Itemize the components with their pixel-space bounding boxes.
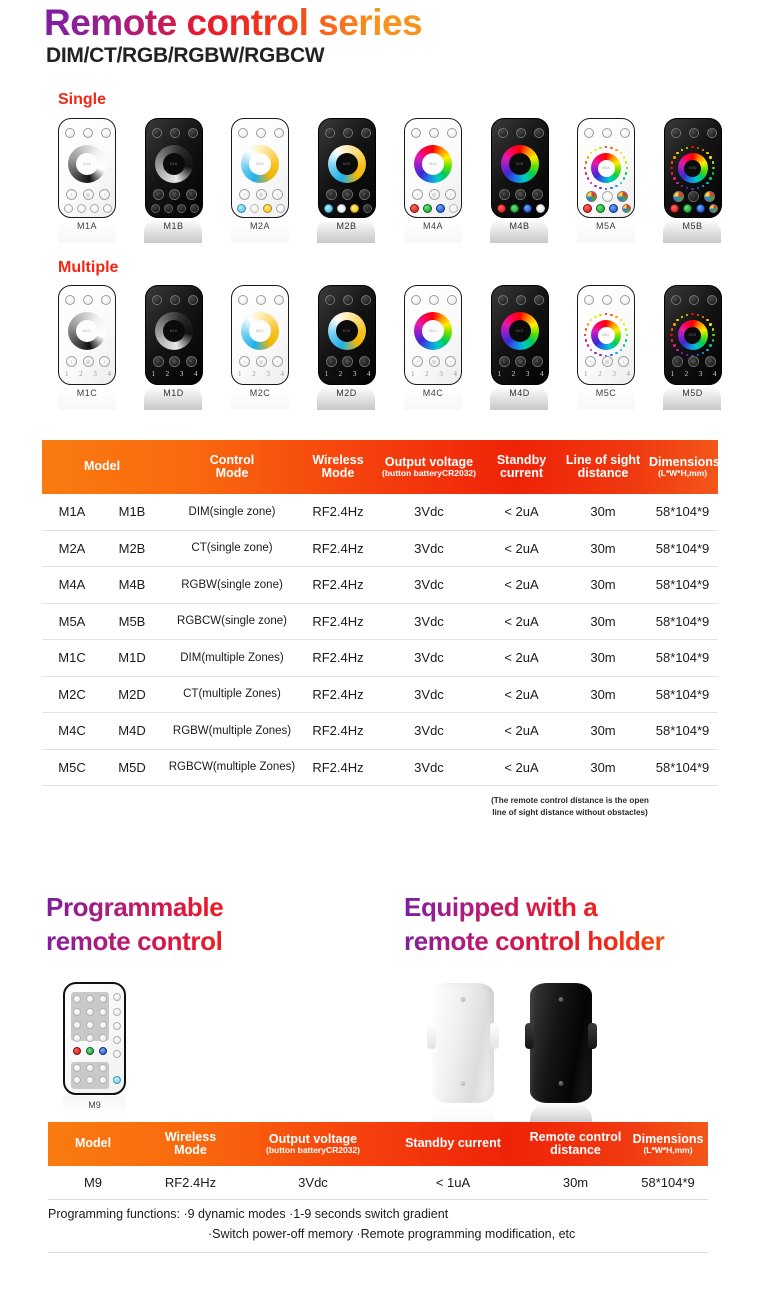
color-wheel-dial[interactable]: M1D: [155, 312, 193, 350]
power-button[interactable]: [498, 128, 508, 138]
cell-distance: 30m: [559, 541, 647, 556]
brightness-button[interactable]: [170, 295, 180, 305]
preset-3-button[interactable]: [617, 191, 628, 202]
play-button[interactable]: ◎: [83, 189, 94, 200]
column-header-title: Wireless: [304, 454, 372, 468]
color-wheel-dial[interactable]: M4C: [414, 312, 452, 350]
prev-button[interactable]: ‹: [326, 189, 337, 200]
play-button[interactable]: ◎: [169, 189, 180, 200]
remote-preset-row: [673, 191, 715, 202]
cell-voltage: 3Vdc: [374, 760, 484, 775]
remote-card-m1d: M1D‹◎›1234M1D: [131, 285, 217, 398]
zone-button-4[interactable]: 4: [540, 370, 544, 378]
zone-button-4[interactable]: 4: [280, 370, 284, 378]
color-wheel-dial[interactable]: M2C: [241, 312, 279, 350]
mode-button[interactable]: [534, 128, 544, 138]
prev-button[interactable]: ‹: [412, 189, 423, 200]
prev-button[interactable]: ‹: [672, 356, 683, 367]
cell-model_b: M1D: [102, 650, 162, 665]
play-button[interactable]: ◎: [256, 189, 267, 200]
mode-button[interactable]: [707, 128, 717, 138]
color-wheel-dial[interactable]: M2B: [328, 145, 366, 183]
zone-button-1[interactable]: 1: [584, 370, 588, 378]
color-wheel-dial[interactable]: M5B: [678, 153, 708, 183]
power-button[interactable]: [238, 295, 248, 305]
prev-button[interactable]: ‹: [153, 189, 164, 200]
m9-cell-wireless: RF2.4Hz: [138, 1175, 243, 1190]
footnote-line-1: (The remote control distance is the open: [491, 796, 649, 805]
programming-functions-note: Programming functions: ·9 dynamic modes …: [48, 1204, 708, 1244]
cell-dimensions: 58*104*9: [647, 504, 718, 519]
auto-mode-button[interactable]: [363, 204, 372, 213]
remote-top-button-row: [238, 295, 284, 305]
m9-table-row: M9RF2.4Hz3Vdc< 1uA30m58*104*9: [48, 1166, 708, 1200]
brightness-button[interactable]: [170, 128, 180, 138]
cell-distance: 30m: [559, 760, 647, 775]
m9-key: [73, 1076, 81, 1084]
footnote-line-2: line of sight distance without obstacles…: [492, 808, 648, 817]
dial-center-label: M5C: [598, 327, 615, 344]
cell-distance: 30m: [559, 504, 647, 519]
next-button[interactable]: ›: [359, 356, 370, 367]
zone-button-4[interactable]: 4: [194, 370, 198, 378]
mode-button[interactable]: [101, 295, 111, 305]
remote-reflection: [490, 219, 548, 243]
speed-down-button[interactable]: [64, 204, 73, 213]
zone-button-1[interactable]: 1: [238, 370, 242, 378]
white-button[interactable]: [536, 204, 545, 213]
zone-button-1[interactable]: 1: [325, 370, 329, 378]
remote-card-m2d: M2D‹◎›1234M2D: [304, 285, 390, 398]
remote-body: M2A‹◎›: [231, 118, 289, 218]
power-button[interactable]: [498, 295, 508, 305]
m9-column-header-1: WirelessMode: [138, 1131, 243, 1158]
cell-distance: 30m: [559, 723, 647, 738]
remote-card-m4a: M4A‹◎›M4A: [390, 118, 476, 231]
cell-model_b: M4D: [102, 723, 162, 738]
remote-nav-row: ‹◎›: [412, 356, 456, 367]
zone-button-1[interactable]: 1: [152, 370, 156, 378]
holder-section-title: Equipped with a remote control holder: [404, 890, 744, 959]
remote-nav-row: ‹◎›: [412, 189, 456, 200]
cool-white-button[interactable]: [324, 204, 333, 213]
remote-bottom-button-row: [497, 204, 545, 213]
column-header-title: Output voltage: [376, 456, 482, 470]
cell-mode: CT(single zone): [162, 542, 302, 554]
column-header-4: Standbycurrent: [484, 454, 559, 481]
power-button[interactable]: [671, 295, 681, 305]
zone-button-1[interactable]: 1: [411, 370, 415, 378]
color-wheel-dial[interactable]: M4A: [414, 145, 452, 183]
zone-button-4[interactable]: 4: [713, 370, 717, 378]
divider-above-programming: [48, 1199, 708, 1200]
brightness-button[interactable]: [516, 128, 526, 138]
natural-white-button[interactable]: [250, 204, 259, 213]
zone-button-3[interactable]: 3: [612, 370, 616, 378]
programmable-section-title: Programmable remote control: [46, 890, 376, 959]
next-button[interactable]: ›: [532, 189, 543, 200]
column-header-title: Control: [164, 454, 300, 468]
zone-button-row: 1234: [411, 370, 457, 378]
zone-button-3[interactable]: 3: [266, 370, 270, 378]
remote-top-button-row: [584, 295, 630, 305]
m9-key: [86, 995, 94, 1003]
brightness-button[interactable]: [429, 128, 439, 138]
play-button[interactable]: ◎: [429, 356, 440, 367]
brightness-button[interactable]: [602, 128, 612, 138]
dial-center-label: M4D: [509, 320, 531, 342]
brightness-button[interactable]: [343, 128, 353, 138]
m9-key: [86, 1021, 94, 1029]
m9-remote-image: [63, 982, 126, 1095]
remote-body: M4B‹◎›: [491, 118, 549, 218]
next-button[interactable]: ›: [186, 189, 197, 200]
m9-column-header-5: Dimensions(L*W*H,mm): [628, 1133, 708, 1156]
mode-button[interactable]: [447, 295, 457, 305]
brightness-button[interactable]: [83, 295, 93, 305]
remote-nav-row: ‹◎›: [672, 356, 716, 367]
next-button[interactable]: ›: [272, 189, 283, 200]
table-footnote: (The remote control distance is the open…: [430, 795, 710, 819]
blue-button[interactable]: [523, 204, 532, 213]
next-button[interactable]: ›: [99, 189, 110, 200]
power-button[interactable]: [325, 295, 335, 305]
table-row: M1CM1DDIM(multiple Zones)RF2.4Hz3Vdc< 2u…: [42, 640, 718, 677]
play-button[interactable]: ◎: [342, 189, 353, 200]
m9-cell-model: M9: [48, 1175, 138, 1190]
cell-model_a: M1C: [42, 650, 102, 665]
cell-model_a: M4C: [42, 723, 102, 738]
play-button[interactable]: ◎: [256, 356, 267, 367]
zone-button-2[interactable]: 2: [79, 370, 83, 378]
cell-voltage: 3Vdc: [374, 614, 484, 629]
m9-column-header-subtitle: (L*W*H,mm): [630, 1146, 706, 1155]
prev-button[interactable]: ‹: [499, 356, 510, 367]
color-wheel-dial[interactable]: M1A: [68, 145, 106, 183]
warm-white-button[interactable]: [350, 204, 359, 213]
green-button[interactable]: [683, 204, 692, 213]
zone-button-2[interactable]: 2: [512, 370, 516, 378]
table-row: M5CM5DRGBCW(multiple Zones)RF2.4Hz3Vdc< …: [42, 750, 718, 787]
cell-standby: < 2uA: [484, 760, 559, 775]
cell-model_a: M2C: [42, 687, 102, 702]
next-button[interactable]: ›: [272, 356, 283, 367]
remote-card-m1c: M1C‹◎›1234M1C: [44, 285, 130, 398]
mode-button[interactable]: [707, 295, 717, 305]
red-button[interactable]: [670, 204, 679, 213]
cell-wireless: RF2.4Hz: [302, 541, 374, 556]
zone-button-4[interactable]: 4: [453, 370, 457, 378]
cell-model_a: M1A: [42, 504, 102, 519]
mode-button[interactable]: [361, 295, 371, 305]
column-header-title-2: current: [486, 467, 557, 481]
m9-key: [99, 1064, 107, 1072]
prev-button[interactable]: ‹: [66, 189, 77, 200]
remote-top-button-row: [411, 128, 457, 138]
auto-mode-button[interactable]: [276, 204, 285, 213]
zone-button-4[interactable]: 4: [107, 370, 111, 378]
blue-button[interactable]: [609, 204, 618, 213]
zone-button-4[interactable]: 4: [367, 370, 371, 378]
natural-white-button[interactable]: [337, 204, 346, 213]
brightness-button[interactable]: [429, 295, 439, 305]
play-button[interactable]: ◎: [688, 356, 699, 367]
column-header-2: WirelessMode: [302, 454, 374, 481]
blue-button[interactable]: [436, 204, 445, 213]
remote-nav-row: ‹◎›: [585, 356, 629, 367]
red-button[interactable]: [497, 204, 506, 213]
prev-button[interactable]: ‹: [412, 356, 423, 367]
color-wheel-dial[interactable]: M5C: [591, 320, 621, 350]
power-button[interactable]: [411, 128, 421, 138]
m9-key: [73, 995, 81, 1003]
prev-button[interactable]: ‹: [239, 189, 250, 200]
next-button[interactable]: ›: [618, 356, 629, 367]
remote-body: M1A‹◎›: [58, 118, 116, 218]
table-row: M4AM4BRGBW(single zone)RF2.4Hz3Vdc< 2uA3…: [42, 567, 718, 604]
page-subtitle: DIM/CT/RGB/RGBW/RGBCW: [46, 44, 324, 68]
prev-button[interactable]: ‹: [585, 356, 596, 367]
cell-voltage: 3Vdc: [374, 541, 484, 556]
prev-button[interactable]: ‹: [326, 356, 337, 367]
speed-up-button[interactable]: [77, 204, 86, 213]
remote-body: M4A‹◎›: [404, 118, 462, 218]
divider-below-programming: [48, 1252, 708, 1253]
dial-center-label: M4A: [422, 153, 444, 175]
next-button[interactable]: ›: [186, 356, 197, 367]
preset-1-button[interactable]: [673, 191, 684, 202]
zone-button-2[interactable]: 2: [425, 370, 429, 378]
cell-mode: CT(multiple Zones): [162, 688, 302, 700]
dial-center-label: M1B: [163, 153, 185, 175]
dim-up-button[interactable]: [190, 204, 199, 213]
cell-model_a: M5A: [42, 614, 102, 629]
brightness-button[interactable]: [602, 295, 612, 305]
red-button[interactable]: [583, 204, 592, 213]
color-wheel-dial[interactable]: M5A: [591, 153, 621, 183]
power-button[interactable]: [238, 128, 248, 138]
cell-model_a: M4A: [42, 577, 102, 592]
blue-button[interactable]: [696, 204, 705, 213]
power-button[interactable]: [411, 295, 421, 305]
brightness-button[interactable]: [256, 128, 266, 138]
cell-distance: 30m: [559, 577, 647, 592]
prev-button[interactable]: ‹: [239, 356, 250, 367]
zone-button-row: 1234: [152, 370, 198, 378]
column-header-title: Dimensions: [649, 456, 716, 470]
cool-white-button[interactable]: [237, 204, 246, 213]
play-button[interactable]: ◎: [429, 189, 440, 200]
white-button[interactable]: [449, 204, 458, 213]
mode-button[interactable]: [274, 128, 284, 138]
next-button[interactable]: ›: [705, 356, 716, 367]
dial-center-label: M4C: [422, 320, 444, 342]
m9-key-green: [86, 1047, 94, 1055]
color-wheel-dial[interactable]: M1B: [155, 145, 193, 183]
m9-cell-dimensions: 58*104*9: [628, 1175, 708, 1190]
brightness-button[interactable]: [516, 295, 526, 305]
dial-center-label: M2D: [336, 320, 358, 342]
speed-down-button[interactable]: [151, 204, 160, 213]
cell-model_b: M2B: [102, 541, 162, 556]
dim-up-button[interactable]: [103, 204, 112, 213]
zone-button-1[interactable]: 1: [65, 370, 69, 378]
m9-side-key: [113, 1022, 121, 1030]
power-button[interactable]: [584, 295, 594, 305]
color-wheel-dial[interactable]: M2D: [328, 312, 366, 350]
color-wheel-dial[interactable]: M4D: [501, 312, 539, 350]
zone-button-2[interactable]: 2: [339, 370, 343, 378]
brightness-button[interactable]: [256, 295, 266, 305]
cell-dimensions: 58*104*9: [647, 650, 718, 665]
cell-standby: < 2uA: [484, 541, 559, 556]
prev-button[interactable]: ‹: [66, 356, 77, 367]
color-wheel-dial[interactable]: M5D: [678, 320, 708, 350]
remote-nav-row: ‹◎›: [66, 189, 110, 200]
dim-down-button[interactable]: [177, 204, 186, 213]
remote-reflection: [577, 219, 635, 243]
remote-bottom-button-row: [237, 204, 285, 213]
remote-card-m2c: M2C‹◎›1234M2C: [217, 285, 303, 398]
column-header-6: Dimensions(L*W*H,mm): [647, 456, 718, 479]
color-wheel-dial[interactable]: M2A: [241, 145, 279, 183]
prev-button[interactable]: ‹: [499, 189, 510, 200]
remote-nav-row: ‹◎›: [66, 356, 110, 367]
power-button[interactable]: [152, 128, 162, 138]
cell-voltage: 3Vdc: [374, 687, 484, 702]
remote-card-m4c: M4C‹◎›1234M4C: [390, 285, 476, 398]
zone-button-2[interactable]: 2: [685, 370, 689, 378]
preset-2-button[interactable]: [602, 191, 613, 202]
next-button[interactable]: ›: [99, 356, 110, 367]
play-button[interactable]: ◎: [83, 356, 94, 367]
power-button[interactable]: [325, 128, 335, 138]
m9-column-header-2: Output voltage(button batteryCR2032): [243, 1133, 383, 1156]
mode-button[interactable]: [101, 128, 111, 138]
table-row: M5AM5BRGBCW(single zone)RF2.4Hz3Vdc< 2uA…: [42, 604, 718, 641]
cell-voltage: 3Vdc: [374, 577, 484, 592]
brightness-button[interactable]: [343, 295, 353, 305]
cell-mode: RGBCW(single zone): [162, 615, 302, 627]
brightness-button[interactable]: [689, 128, 699, 138]
color-wheel-dial[interactable]: M4B: [501, 145, 539, 183]
next-button[interactable]: ›: [445, 189, 456, 200]
remote-top-button-row: [671, 128, 717, 138]
remote-body: M1C‹◎›1234: [58, 285, 116, 385]
zone-button-3[interactable]: 3: [93, 370, 97, 378]
play-button[interactable]: ◎: [515, 356, 526, 367]
prev-button[interactable]: ‹: [153, 356, 164, 367]
power-button[interactable]: [152, 295, 162, 305]
remote-reflection: [58, 386, 116, 410]
dim-down-button[interactable]: [90, 204, 99, 213]
mix-button[interactable]: [709, 204, 718, 213]
zone-button-row: 1234: [498, 370, 544, 378]
color-wheel-dial[interactable]: M1C: [68, 312, 106, 350]
green-button[interactable]: [510, 204, 519, 213]
m9-key: [99, 1034, 107, 1042]
zone-button-3[interactable]: 3: [180, 370, 184, 378]
m9-spec-table: ModelWirelessModeOutput voltage(button b…: [48, 1122, 708, 1200]
power-button[interactable]: [584, 128, 594, 138]
speed-up-button[interactable]: [164, 204, 173, 213]
holder-title-line-1: Equipped with a: [404, 892, 597, 922]
remote-top-button-row: [498, 295, 544, 305]
mode-button[interactable]: [620, 295, 630, 305]
cell-wireless: RF2.4Hz: [302, 614, 374, 629]
m9-key: [73, 1064, 81, 1072]
preset-1-button[interactable]: [586, 191, 597, 202]
mix-button[interactable]: [622, 204, 631, 213]
remote-top-button-row: [325, 128, 371, 138]
remote-top-button-row: [498, 128, 544, 138]
zone-button-1[interactable]: 1: [671, 370, 675, 378]
mode-button[interactable]: [188, 128, 198, 138]
zone-button-3[interactable]: 3: [699, 370, 703, 378]
mode-button[interactable]: [274, 295, 284, 305]
play-button[interactable]: ◎: [602, 356, 613, 367]
play-button[interactable]: ◎: [515, 189, 526, 200]
m9-column-header-title: Remote control: [525, 1131, 626, 1145]
power-button[interactable]: [65, 295, 75, 305]
cell-mode: RGBW(multiple Zones): [162, 725, 302, 737]
preset-2-button[interactable]: [688, 191, 699, 202]
dial-center-label: M5D: [684, 327, 701, 344]
m9-column-header-title: Dimensions: [630, 1133, 706, 1147]
mode-button[interactable]: [447, 128, 457, 138]
play-button[interactable]: ◎: [342, 356, 353, 367]
red-button[interactable]: [410, 204, 419, 213]
mode-button[interactable]: [620, 128, 630, 138]
green-button[interactable]: [596, 204, 605, 213]
next-button[interactable]: ›: [532, 356, 543, 367]
holder-clip-left: [427, 1023, 436, 1049]
zone-button-2[interactable]: 2: [252, 370, 256, 378]
mode-button[interactable]: [361, 128, 371, 138]
zone-button-3[interactable]: 3: [526, 370, 530, 378]
green-button[interactable]: [423, 204, 432, 213]
zone-button-3[interactable]: 3: [353, 370, 357, 378]
cell-model_a: M5C: [42, 760, 102, 775]
holder-clip-right: [588, 1023, 597, 1049]
remote-body: M2D‹◎›1234: [318, 285, 376, 385]
m9-column-header-title-2: distance: [525, 1144, 626, 1158]
play-button[interactable]: ◎: [169, 356, 180, 367]
warm-white-button[interactable]: [263, 204, 272, 213]
preset-3-button[interactable]: [704, 191, 715, 202]
brightness-button[interactable]: [689, 295, 699, 305]
remote-card-m2b: M2B‹◎›M2B: [304, 118, 390, 231]
zone-button-2[interactable]: 2: [166, 370, 170, 378]
power-button[interactable]: [671, 128, 681, 138]
next-button[interactable]: ›: [445, 356, 456, 367]
zone-button-4[interactable]: 4: [626, 370, 630, 378]
zone-button-2[interactable]: 2: [598, 370, 602, 378]
page-title: Remote control series: [44, 2, 422, 44]
dial-center-label: M2B: [336, 153, 358, 175]
next-button[interactable]: ›: [359, 189, 370, 200]
power-button[interactable]: [65, 128, 75, 138]
dial-center-label: M5B: [684, 160, 701, 177]
zone-button-1[interactable]: 1: [498, 370, 502, 378]
mode-button[interactable]: [534, 295, 544, 305]
m9-column-header-title-2: Mode: [140, 1144, 241, 1158]
remote-nav-row: ‹◎›: [499, 356, 543, 367]
zone-button-3[interactable]: 3: [439, 370, 443, 378]
brightness-button[interactable]: [83, 128, 93, 138]
m9-column-header-title: Output voltage: [245, 1133, 381, 1147]
mode-button[interactable]: [188, 295, 198, 305]
